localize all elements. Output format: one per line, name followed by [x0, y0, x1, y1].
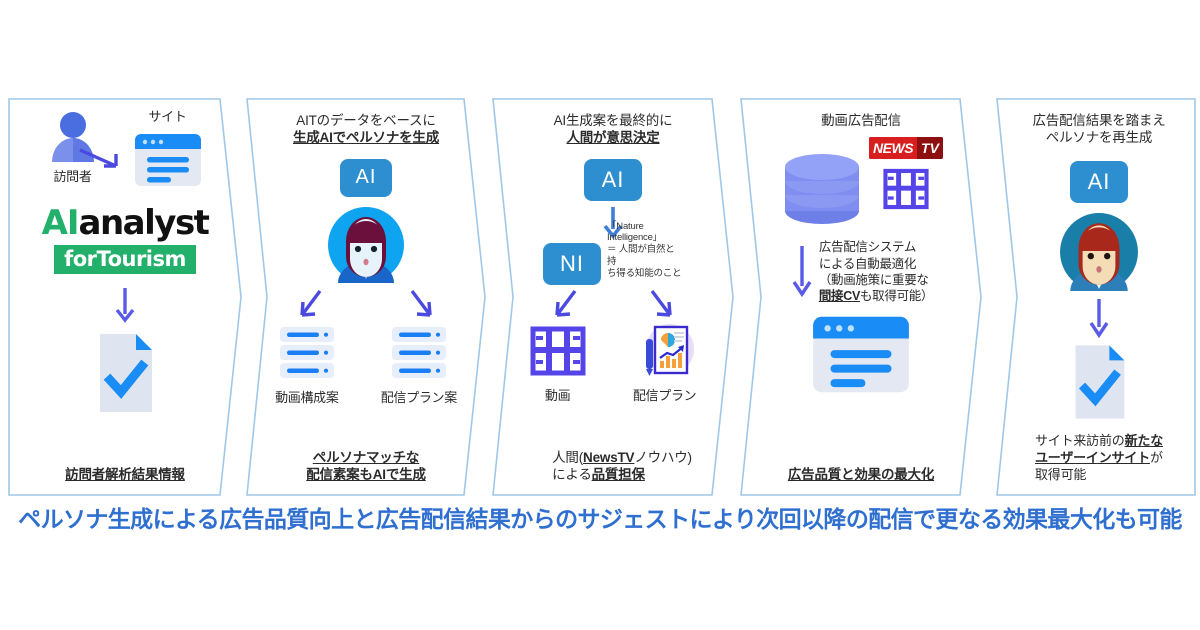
- panel-persona-regeneration: 広告配信結果を踏まえ ペルソナを再生成 AI: [996, 98, 1196, 496]
- newstv-tv-text: TV: [917, 137, 943, 159]
- panel4-body: 広告配信システム による自動最適化 （動画施策に重要な 間接CVも取得可能）: [819, 239, 933, 304]
- panel5-title-line2: ペルソナを再生成: [1046, 130, 1152, 145]
- site-group: サイト: [131, 106, 205, 190]
- site-label: サイト: [148, 106, 186, 125]
- panel2-foot-line2: 配信素案もAIで生成: [306, 467, 426, 482]
- video-group: 動画: [530, 323, 586, 404]
- document-check-icon: [92, 332, 158, 414]
- panel4-body-line4-a: 間接CV: [819, 289, 860, 303]
- arrow-down-right-icon: [402, 287, 442, 323]
- browser-window-icon: [807, 308, 915, 398]
- panel3-right-label: 配信プラン: [633, 385, 697, 404]
- ai-chip-icon: AI: [340, 159, 392, 197]
- nature-intelligence-note: 「Nature Intelligence」 ＝ 人間が自然と持 ち得る知能のこと: [607, 221, 683, 280]
- browser-window-icon: [131, 128, 205, 190]
- panel4-foot-text: 広告品質と効果の最大化: [788, 467, 934, 482]
- plan-report-group: 配信プラン: [633, 323, 697, 404]
- arrow-down-icon: [112, 286, 138, 326]
- newstv-news-text: NEWS: [869, 137, 917, 159]
- persona-avatar-icon: [1058, 211, 1140, 293]
- panel5-foot-line2: ユーザーインサイト: [1035, 450, 1150, 465]
- panel3-foot-line2-b: 品質担保: [592, 467, 645, 482]
- panel5-title: 広告配信結果を踏まえ ペルソナを再生成: [1033, 112, 1166, 147]
- diagram-canvas: 訪問者 サイト: [0, 0, 1200, 630]
- panel1-foot-text: 訪問者解析結果情報: [65, 467, 185, 482]
- panel5-title-line1: 広告配信結果を踏まえ: [1033, 113, 1166, 128]
- panel3-footer: 人間(NewsTVノウハウ) による品質担保: [534, 449, 692, 484]
- panel-human-decision: AI生成案を最終的に 人間が意思決定 AI NI 「Nature: [492, 98, 734, 496]
- ai-analyst-logo: AIanalyst forTourism: [42, 206, 209, 274]
- panel3-foot-line1-a: 人間(: [552, 450, 583, 465]
- arrow-right-icon: [76, 146, 136, 172]
- server-rack-icon: [278, 325, 336, 381]
- document-check-icon: [1068, 343, 1130, 421]
- panel2-left-label: 動画構成案: [275, 387, 339, 406]
- arrow-down-left-icon: [545, 287, 585, 323]
- ai-chip-icon: AI: [1070, 161, 1128, 203]
- bottom-caption: ペルソナ生成による広告品質向上と広告配信結果からのサジェストにより次回以降の配信…: [0, 500, 1200, 534]
- arrow-down-right-icon: [642, 287, 682, 323]
- ni-note-line3: ＝ 人間が自然と持: [607, 244, 675, 267]
- panel5-foot-line3: 取得可能: [1035, 467, 1086, 482]
- panel2-title-line1: AITのデータをベースに: [296, 113, 435, 128]
- ni-chip-icon: NI: [543, 243, 601, 285]
- panel2-footer: ペルソナマッチな 配信素案もAIで生成: [306, 449, 426, 484]
- panel4-body-line4-b: も取得可能）: [860, 289, 933, 303]
- ni-note-line4: ち得る知能のこと: [607, 268, 681, 279]
- panel3-chip-ni-label: NI: [560, 251, 584, 277]
- panel-persona-generation: AITのデータをベースに 生成AIでペルソナを生成 AI: [246, 98, 486, 496]
- panel2-right-label: 配信プラン案: [381, 387, 457, 406]
- ai-chip-icon: AI: [584, 159, 642, 201]
- panel2-title: AITのデータをベースに 生成AIでペルソナを生成: [293, 112, 439, 147]
- ni-note-line1: 「Nature: [607, 221, 644, 232]
- panel4-footer: 広告品質と効果の最大化: [788, 466, 934, 484]
- ni-note-line2: Intelligence」: [607, 232, 662, 243]
- panel5-footer: サイト来訪前の新たな ユーザーインサイトが 取得可能: [1035, 433, 1163, 484]
- panel4-title: 動画広告配信: [821, 112, 901, 129]
- film-strip-icon: [883, 165, 929, 213]
- video-plan-group: 動画構成案: [275, 325, 339, 406]
- panel5-foot-line2-b: が: [1150, 450, 1163, 465]
- panel3-left-label: 動画: [545, 385, 570, 404]
- arrow-down-left-icon: [290, 287, 330, 323]
- panel3-title: AI生成案を最終的に 人間が意思決定: [554, 112, 673, 147]
- panel4-body-line2: による自動最適化: [819, 257, 916, 271]
- panel1-footer: 訪問者解析結果情報: [65, 466, 185, 484]
- panel3-title-line2: 人間が意思決定: [566, 130, 659, 145]
- delivery-plan-group: 配信プラン案: [381, 325, 457, 406]
- logo-ai-text: AI: [42, 206, 79, 240]
- panel-ad-delivery: 動画広告配信 NEWS TV: [740, 98, 982, 496]
- arrow-down-icon: [1086, 297, 1112, 341]
- server-rack-icon: [390, 325, 448, 381]
- panel3-title-line1: AI生成案を最終的に: [554, 113, 673, 128]
- panel3-foot-line2-a: による: [552, 467, 592, 482]
- newstv-video-group: NEWS TV: [869, 137, 943, 213]
- panel2-title-line2: 生成AIでペルソナを生成: [293, 130, 439, 145]
- panel4-body-line1: 広告配信システム: [819, 240, 916, 254]
- panel-row: 訪問者 サイト: [0, 98, 1200, 496]
- database-stack-icon: [779, 151, 865, 233]
- panel5-foot-line1-a: サイト来訪前の: [1035, 433, 1125, 448]
- newstv-logo-icon: NEWS TV: [869, 137, 943, 159]
- panel3-foot-line1-b: NewsTV: [583, 450, 634, 465]
- report-chart-icon: [634, 323, 696, 379]
- arrow-down-icon: [789, 242, 815, 302]
- panel5-foot-line1-b: 新たな: [1125, 433, 1163, 448]
- panel4-body-line3: （動画施策に重要な: [819, 273, 929, 287]
- panel2-foot-line1: ペルソナマッチな: [313, 450, 419, 465]
- panel-visitor-analysis: 訪問者 サイト: [8, 98, 242, 496]
- persona-avatar-icon: [326, 205, 406, 285]
- panel2-chip-label: AI: [356, 166, 377, 189]
- panel3-chip-ai-label: AI: [602, 167, 625, 193]
- film-strip-icon: [530, 323, 586, 379]
- logo-analyst-text: analyst: [79, 206, 209, 240]
- logo-fortourism-badge: forTourism: [54, 245, 196, 274]
- panel5-chip-label: AI: [1088, 169, 1111, 195]
- panel3-foot-line1-c: ノウハウ): [634, 450, 692, 465]
